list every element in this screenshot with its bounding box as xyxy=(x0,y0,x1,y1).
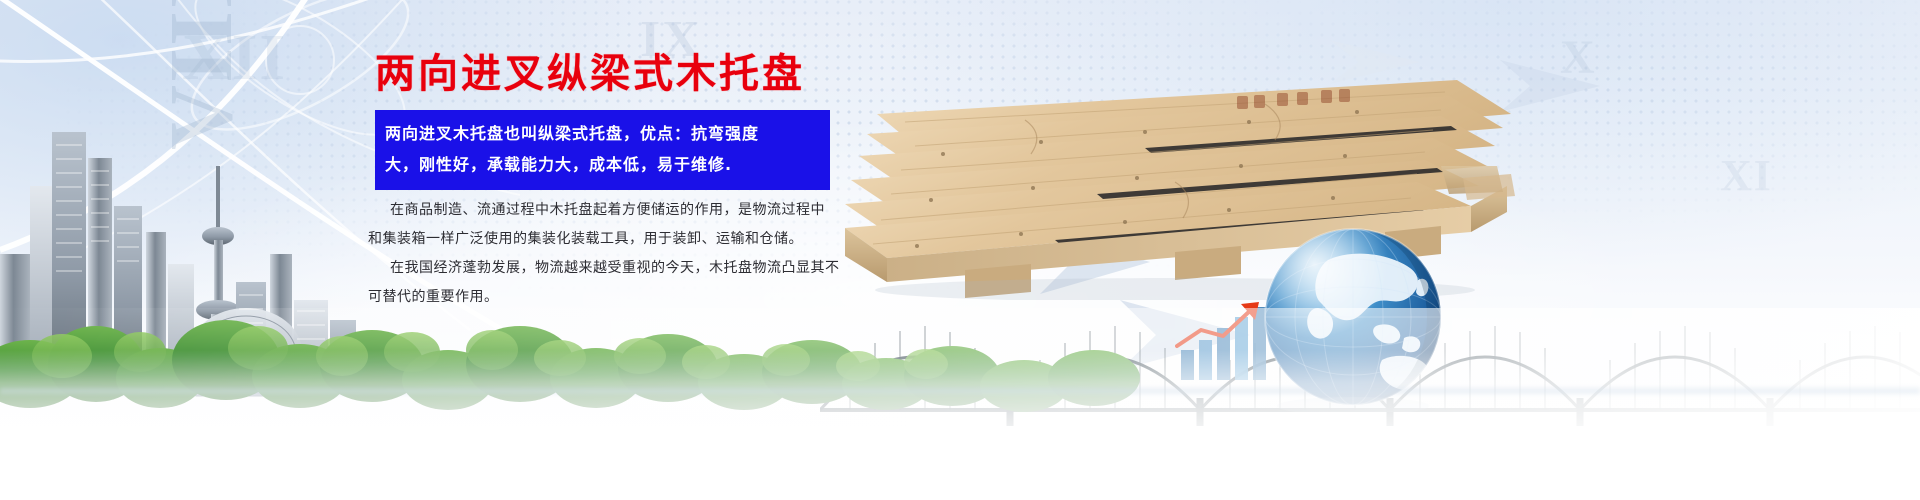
body-line-3: 在我国经济蓬勃发展，物流越来越受重视的今天，木托盘物流凸显其不 xyxy=(368,254,848,283)
body-line-1: 在商品制造、流通过程中木托盘起着方便储运的作用，是物流过程中 xyxy=(368,196,848,225)
body-line-4: 可替代的重要作用。 xyxy=(368,283,848,312)
water-reflection xyxy=(0,350,1920,500)
watermark-roman-x: X xyxy=(1560,30,1597,85)
highlight-callout-box: 两向进叉木托盘也叫纵梁式托盘，优点：抗弯强度 大，刚性好，承载能力大，成本低，易… xyxy=(375,110,830,190)
page-title: 两向进叉纵梁式木托盘 xyxy=(375,52,805,96)
body-paragraph: 在商品制造、流通过程中木托盘起着方便储运的作用，是物流过程中 和集装箱一样广泛使… xyxy=(368,196,848,312)
watermark-roman-xii: XII xyxy=(182,20,287,96)
product-banner: VIII XII VII IX X XI xyxy=(0,0,1920,500)
highlight-line-1: 两向进叉木托盘也叫纵梁式托盘，优点：抗弯强度 xyxy=(381,118,824,149)
body-line-2: 和集装箱一样广泛使用的集装化装载工具，用于装卸、运输和仓储。 xyxy=(368,225,848,254)
highlight-line-2: 大，刚性好，承载能力大，成本低，易于维修. xyxy=(381,149,824,180)
watermark-roman-xi: XI xyxy=(1720,150,1773,201)
